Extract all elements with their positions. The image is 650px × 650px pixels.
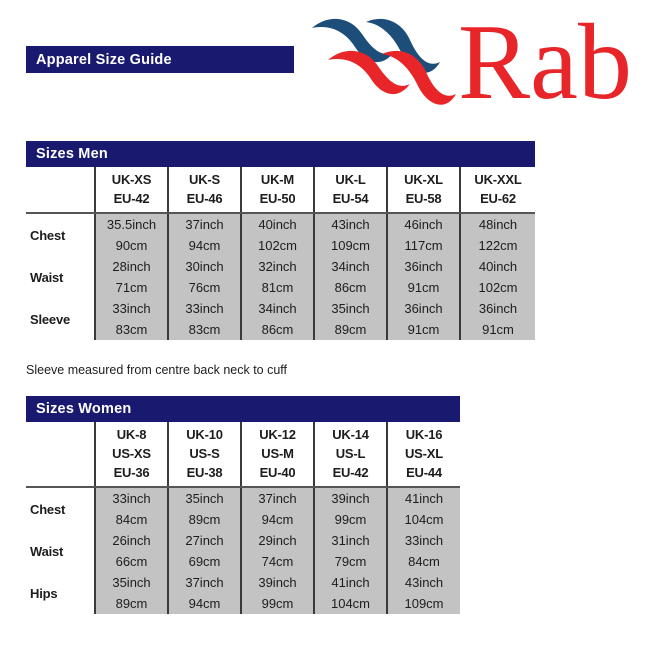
women-cell-inch-0-4: 41inch	[388, 488, 460, 509]
women-cell-inch-2-2: 39inch	[242, 572, 313, 593]
men-cell-2-0: 33inch 83cm	[95, 298, 168, 340]
women-cell-1-2: 29inch 74cm	[241, 530, 314, 572]
men-cell-2-3: 35inch 89cm	[314, 298, 387, 340]
women-cell-2-1: 37inch 94cm	[168, 572, 241, 614]
men-cell-inch-0-5: 48inch	[461, 214, 535, 235]
men-section-title: Sizes Men	[26, 146, 108, 162]
men-col-uk-0: UK-XS	[96, 170, 167, 189]
women-cell-cm-2-1: 94cm	[169, 593, 240, 614]
rab-logo: Rab	[306, 6, 646, 118]
men-cell-0-1: 37inch 94cm	[168, 213, 241, 256]
women-col-eu-1: EU-38	[169, 463, 240, 482]
men-row-label-0: Chest	[26, 213, 95, 256]
women-cell-inch-2-1: 37inch	[169, 572, 240, 593]
women-col-header-1: UK-10 US-S EU-38	[168, 422, 241, 487]
table-row: Waist 26inch 66cm 27inch 69cm 29inch 74c…	[26, 530, 460, 572]
women-col-header-4: UK-16 US-XL EU-44	[387, 422, 460, 487]
men-col-uk-1: UK-S	[169, 170, 240, 189]
women-cell-1-0: 26inch 66cm	[95, 530, 168, 572]
men-cell-inch-2-2: 34inch	[242, 298, 313, 319]
logo-wave-red	[328, 51, 456, 105]
men-cell-cm-0-0: 90cm	[96, 235, 167, 256]
men-col-header-0: UK-XS EU-42	[95, 167, 168, 213]
men-col-uk-2: UK-M	[242, 170, 313, 189]
men-cell-inch-0-0: 35.5inch	[96, 214, 167, 235]
men-cell-inch-0-4: 46inch	[388, 214, 459, 235]
women-cell-cm-1-3: 79cm	[315, 551, 386, 572]
women-row-label-1: Waist	[26, 530, 95, 572]
men-col-eu-4: EU-58	[388, 189, 459, 208]
women-cell-inch-2-3: 41inch	[315, 572, 386, 593]
men-cell-cm-2-2: 86cm	[242, 319, 313, 340]
women-col-us-2: US-M	[242, 444, 313, 463]
women-cell-cm-0-4: 104cm	[388, 509, 460, 530]
men-col-header-1: UK-S EU-46	[168, 167, 241, 213]
women-cell-inch-1-0: 26inch	[96, 530, 167, 551]
table-row: Hips 35inch 89cm 37inch 94cm 39inch 99cm…	[26, 572, 460, 614]
men-cell-cm-2-4: 91cm	[388, 319, 459, 340]
women-cell-inch-1-2: 29inch	[242, 530, 313, 551]
women-cell-cm-0-2: 94cm	[242, 509, 313, 530]
women-col-header-3: UK-14 US-L EU-42	[314, 422, 387, 487]
women-col-uk-3: UK-14	[315, 425, 386, 444]
women-cell-cm-0-1: 89cm	[169, 509, 240, 530]
men-cell-cm-2-0: 83cm	[96, 319, 167, 340]
men-cell-cm-1-1: 76cm	[169, 277, 240, 298]
women-cell-1-1: 27inch 69cm	[168, 530, 241, 572]
men-cell-inch-2-0: 33inch	[96, 298, 167, 319]
women-cell-cm-1-0: 66cm	[96, 551, 167, 572]
women-header-row: UK-8 US-XS EU-36 UK-10 US-S EU-38 UK-12 …	[26, 422, 460, 487]
women-cell-cm-2-4: 109cm	[388, 593, 460, 614]
men-cell-inch-2-4: 36inch	[388, 298, 459, 319]
women-cell-inch-0-0: 33inch	[96, 488, 167, 509]
men-cell-cm-1-0: 71cm	[96, 277, 167, 298]
men-row-label-2: Sleeve	[26, 298, 95, 340]
men-size-table-block: Sizes Men UK-XS EU-42 UK-S EU-46 UK-M	[26, 141, 535, 340]
women-cell-cm-1-4: 84cm	[388, 551, 460, 572]
men-col-header-5: UK-XXL EU-62	[460, 167, 535, 213]
men-cell-2-4: 36inch 91cm	[387, 298, 460, 340]
men-cell-1-3: 34inch 86cm	[314, 256, 387, 298]
men-col-uk-4: UK-XL	[388, 170, 459, 189]
women-col-uk-1: UK-10	[169, 425, 240, 444]
men-cell-0-0: 35.5inch 90cm	[95, 213, 168, 256]
table-row: Chest 35.5inch 90cm 37inch 94cm 40inch 1…	[26, 213, 535, 256]
women-cell-0-2: 37inch 94cm	[241, 487, 314, 530]
women-section-title: Sizes Women	[26, 401, 131, 417]
women-cell-0-4: 41inch 104cm	[387, 487, 460, 530]
men-cell-cm-1-4: 91cm	[388, 277, 459, 298]
women-row-label-0: Chest	[26, 487, 95, 530]
men-cell-inch-1-2: 32inch	[242, 256, 313, 277]
women-cell-1-4: 33inch 84cm	[387, 530, 460, 572]
men-col-eu-1: EU-46	[169, 189, 240, 208]
page-title-bar: Apparel Size Guide	[26, 46, 294, 73]
women-col-eu-0: EU-36	[96, 463, 167, 482]
women-col-us-0: US-XS	[96, 444, 167, 463]
women-header-corner	[26, 422, 95, 487]
women-col-uk-2: UK-12	[242, 425, 313, 444]
men-col-eu-0: EU-42	[96, 189, 167, 208]
men-cell-cm-0-3: 109cm	[315, 235, 386, 256]
men-cell-2-1: 33inch 83cm	[168, 298, 241, 340]
men-cell-cm-1-5: 102cm	[461, 277, 535, 298]
men-cell-cm-1-2: 81cm	[242, 277, 313, 298]
women-col-us-1: US-S	[169, 444, 240, 463]
women-cell-1-3: 31inch 79cm	[314, 530, 387, 572]
men-cell-inch-2-3: 35inch	[315, 298, 386, 319]
women-cell-inch-2-4: 43inch	[388, 572, 460, 593]
men-col-header-4: UK-XL EU-58	[387, 167, 460, 213]
men-cell-inch-1-5: 40inch	[461, 256, 535, 277]
women-cell-2-0: 35inch 89cm	[95, 572, 168, 614]
women-cell-0-0: 33inch 84cm	[95, 487, 168, 530]
women-col-uk-0: UK-8	[96, 425, 167, 444]
men-col-uk-5: UK-XXL	[461, 170, 535, 189]
women-cell-0-1: 35inch 89cm	[168, 487, 241, 530]
men-cell-inch-1-0: 28inch	[96, 256, 167, 277]
men-cell-inch-0-3: 43inch	[315, 214, 386, 235]
women-size-table: UK-8 US-XS EU-36 UK-10 US-S EU-38 UK-12 …	[26, 422, 460, 614]
women-cell-inch-0-1: 35inch	[169, 488, 240, 509]
men-cell-inch-1-1: 30inch	[169, 256, 240, 277]
women-cell-2-4: 43inch 109cm	[387, 572, 460, 614]
women-col-us-4: US-XL	[388, 444, 460, 463]
men-cell-cm-1-3: 86cm	[315, 277, 386, 298]
men-col-eu-2: EU-50	[242, 189, 313, 208]
men-cell-0-3: 43inch 109cm	[314, 213, 387, 256]
men-cell-1-1: 30inch 76cm	[168, 256, 241, 298]
men-cell-cm-0-5: 122cm	[461, 235, 535, 256]
men-cell-2-5: 36inch 91cm	[460, 298, 535, 340]
men-cell-inch-0-1: 37inch	[169, 214, 240, 235]
women-cell-cm-2-2: 99cm	[242, 593, 313, 614]
men-header-row: UK-XS EU-42 UK-S EU-46 UK-M EU-50 UK-L E…	[26, 167, 535, 213]
women-col-us-3: US-L	[315, 444, 386, 463]
women-cell-inch-1-4: 33inch	[388, 530, 460, 551]
men-cell-inch-2-1: 33inch	[169, 298, 240, 319]
men-cell-0-4: 46inch 117cm	[387, 213, 460, 256]
men-cell-inch-1-4: 36inch	[388, 256, 459, 277]
women-cell-2-2: 39inch 99cm	[241, 572, 314, 614]
women-cell-2-3: 41inch 104cm	[314, 572, 387, 614]
table-row: Sleeve 33inch 83cm 33inch 83cm 34inch 86…	[26, 298, 535, 340]
men-cell-1-4: 36inch 91cm	[387, 256, 460, 298]
men-cell-inch-1-3: 34inch	[315, 256, 386, 277]
women-col-header-2: UK-12 US-M EU-40	[241, 422, 314, 487]
men-cell-cm-0-1: 94cm	[169, 235, 240, 256]
women-cell-inch-1-3: 31inch	[315, 530, 386, 551]
women-cell-cm-1-2: 74cm	[242, 551, 313, 572]
women-col-eu-3: EU-42	[315, 463, 386, 482]
men-col-uk-3: UK-L	[315, 170, 386, 189]
page-title: Apparel Size Guide	[26, 52, 172, 68]
logo-wordmark: Rab	[458, 6, 632, 118]
men-col-header-3: UK-L EU-54	[314, 167, 387, 213]
women-cell-cm-2-0: 89cm	[96, 593, 167, 614]
men-cell-cm-2-5: 91cm	[461, 319, 535, 340]
men-cell-0-5: 48inch 122cm	[460, 213, 535, 256]
men-cell-cm-0-2: 102cm	[242, 235, 313, 256]
women-cell-inch-2-0: 35inch	[96, 572, 167, 593]
women-col-eu-2: EU-40	[242, 463, 313, 482]
men-cell-cm-2-1: 83cm	[169, 319, 240, 340]
women-cell-cm-1-1: 69cm	[169, 551, 240, 572]
women-cell-inch-0-2: 37inch	[242, 488, 313, 509]
women-cell-0-3: 39inch 99cm	[314, 487, 387, 530]
men-cell-1-5: 40inch 102cm	[460, 256, 535, 298]
women-col-uk-4: UK-16	[388, 425, 460, 444]
table-row: Waist 28inch 71cm 30inch 76cm 32inch 81c…	[26, 256, 535, 298]
men-col-eu-3: EU-54	[315, 189, 386, 208]
men-cell-2-2: 34inch 86cm	[241, 298, 314, 340]
women-cell-inch-0-3: 39inch	[315, 488, 386, 509]
men-cell-cm-2-3: 89cm	[315, 319, 386, 340]
men-sleeve-note: Sleeve measured from centre back neck to…	[26, 363, 287, 377]
men-cell-inch-0-2: 40inch	[242, 214, 313, 235]
men-row-label-1: Waist	[26, 256, 95, 298]
men-size-table: UK-XS EU-42 UK-S EU-46 UK-M EU-50 UK-L E…	[26, 167, 535, 340]
men-col-header-2: UK-M EU-50	[241, 167, 314, 213]
women-cell-cm-0-0: 84cm	[96, 509, 167, 530]
women-col-header-0: UK-8 US-XS EU-36	[95, 422, 168, 487]
women-cell-inch-1-1: 27inch	[169, 530, 240, 551]
page-header: Apparel Size Guide Rab	[0, 0, 650, 128]
men-col-eu-5: EU-62	[461, 189, 535, 208]
men-header-corner	[26, 167, 95, 213]
men-section-bar: Sizes Men	[26, 141, 535, 167]
men-cell-1-2: 32inch 81cm	[241, 256, 314, 298]
women-cell-cm-0-3: 99cm	[315, 509, 386, 530]
men-cell-cm-0-4: 117cm	[388, 235, 459, 256]
men-cell-inch-2-5: 36inch	[461, 298, 535, 319]
men-cell-0-2: 40inch 102cm	[241, 213, 314, 256]
women-section-bar: Sizes Women	[26, 396, 460, 422]
women-size-table-block: Sizes Women UK-8 US-XS EU-36 UK-10 US-S …	[26, 396, 460, 614]
women-col-eu-4: EU-44	[388, 463, 460, 482]
table-row: Chest 33inch 84cm 35inch 89cm 37inch 94c…	[26, 487, 460, 530]
men-cell-1-0: 28inch 71cm	[95, 256, 168, 298]
women-cell-cm-2-3: 104cm	[315, 593, 386, 614]
women-row-label-2: Hips	[26, 572, 95, 614]
